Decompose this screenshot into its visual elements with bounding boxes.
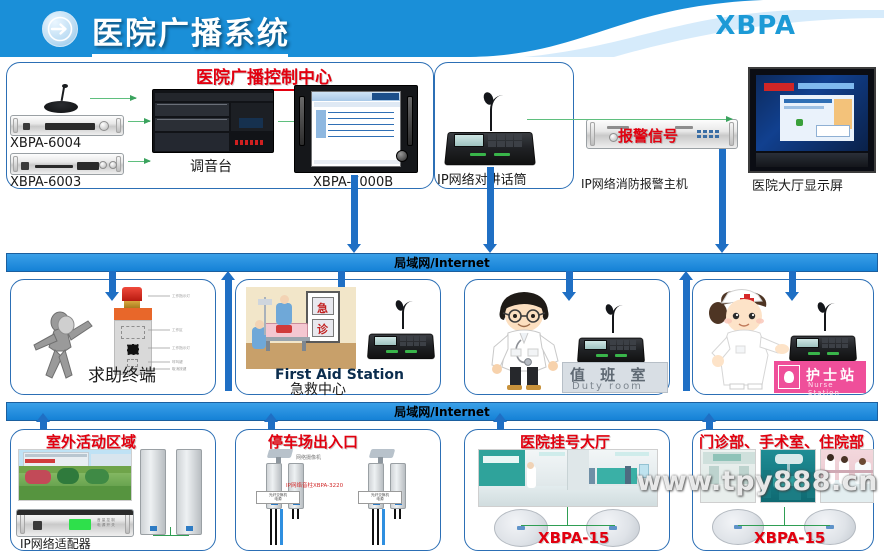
signal-arrow-mic-to-display: [527, 119, 732, 120]
svg-text:工作指示灯: 工作指示灯: [172, 293, 190, 298]
svg-text:工作区: 工作区: [172, 327, 183, 332]
parking-speaker-label: IP网络音柱XBPA-3220: [286, 481, 343, 489]
column-speaker-left-icon: [140, 449, 166, 535]
duty-room-sign-en: Duty room: [572, 381, 643, 392]
signal-arrow-6003-to-mixer: [128, 161, 150, 162]
signal-arrow-mic-to-mixer: [90, 98, 136, 99]
duty-room-paging-mic-icon: [578, 305, 644, 363]
device-label-mixer: 调音台: [190, 156, 232, 176]
speaker-wire-lobby-stem: [567, 507, 568, 526]
speaker-wire-outdoor: [153, 535, 189, 536]
device-ip-network-adapter: 音 量 控 制电 源 开 关: [16, 509, 134, 537]
device-xbpa-6004: [10, 115, 124, 136]
nurse-station-sign: 护士站 Nurse Station: [774, 361, 866, 393]
duty-room-sign: 值 班 室 Duty room: [562, 362, 668, 393]
desk-microphone-icon: [22, 85, 82, 115]
network-bar-top-label: 局域网/Internet: [394, 254, 490, 271]
svg-text:取消按键: 取消按键: [172, 366, 187, 371]
arrow-duty-room-to-network: [683, 279, 690, 391]
speaker-label-lobby: XBPA-15: [538, 529, 609, 547]
device-label-ip-network-adapter: IP网络适配器: [20, 535, 91, 552]
arrow-alarm-host-to-network: [719, 149, 726, 245]
svg-text:呼叫键: 呼叫键: [172, 359, 183, 364]
arrow-7000b-to-network: [351, 175, 358, 245]
device-audio-mixer: [152, 89, 274, 153]
nurse-station-paging-mic-icon: [790, 303, 856, 361]
device-led-display-screen: [748, 67, 876, 173]
speaker-wire-lobby: [521, 525, 615, 526]
outdoor-photo-icon: [18, 449, 132, 501]
operating-room-photo-icon: [760, 449, 816, 503]
device-ip-paging-microphone: [446, 93, 534, 165]
parking-camera-label: 网络摄像机: [296, 454, 321, 461]
header-wave-decoration: [464, 0, 884, 57]
first-aid-illustration-icon: 急 诊: [246, 287, 356, 369]
device-label-fire-alarm-host: IP网络消防报警主机: [581, 175, 688, 192]
parking-switch-label-1: 光纤交换机电源: [256, 491, 300, 504]
signal-arrow-6004-to-mixer: [128, 121, 150, 122]
first-aid-paging-mic-icon: [368, 301, 434, 359]
hospital-lobby-photo-icon: [478, 449, 658, 507]
network-bar-top: 局域网/Internet: [6, 253, 878, 272]
network-bar-bottom-label: 局域网/Internet: [394, 403, 490, 420]
device-xbpa-7000b: [294, 85, 418, 173]
nurse-station-sign-en: Nurse Station: [808, 381, 866, 397]
device-label-xbpa-6004: XBPA-6004: [10, 136, 81, 151]
help-terminal-callout-lines: 工作指示灯工作区 工作指示灯呼叫键取消按键: [148, 290, 206, 382]
speaker-wire-clinic-stem: [784, 507, 785, 526]
panel-title-first-aid-cn: 急救中心: [290, 379, 346, 399]
page-title: 医院广播系统: [92, 8, 290, 57]
device-label-xbpa-6003: XBPA-6003: [10, 175, 81, 190]
device-label-ip-paging-mic: IP网络对讲话筒: [437, 169, 527, 188]
arrow-paging-mic-to-network: [487, 167, 494, 245]
svg-text:工作指示灯: 工作指示灯: [172, 345, 190, 350]
doctor-illustration-icon: [480, 287, 572, 391]
inpatient-ward-photo-icon: [820, 449, 874, 503]
alarm-signal-label: 报警信号: [618, 125, 678, 146]
clinic-corridor-photo-icon: [700, 449, 756, 503]
page-title-text: 医院广播系统: [92, 16, 290, 52]
app-header: 医院广播系统 XBPA: [0, 0, 884, 57]
device-label-hall-display: 医院大厅显示屏: [752, 175, 843, 194]
device-xbpa-6003: [10, 153, 124, 175]
panel-title-help-terminal: 求助终端: [88, 361, 156, 386]
speaker-wire-outdoor-stem: [170, 527, 171, 536]
arrow-right-circle-icon: [42, 11, 78, 47]
column-speaker-right-icon: [176, 449, 202, 535]
parking-switch-label-2: 光纤交换机电源: [358, 491, 402, 504]
arrow-first-aid-to-network: [225, 279, 232, 391]
brand-logo: XBPA: [715, 11, 796, 41]
network-bar-bottom: 局域网/Internet: [6, 402, 878, 421]
speaker-label-clinic: XBPA-15: [754, 529, 825, 547]
diagram-stage: 医院广播控制中心 XBPA-6004 XBPA-6003 调音: [0, 57, 884, 499]
